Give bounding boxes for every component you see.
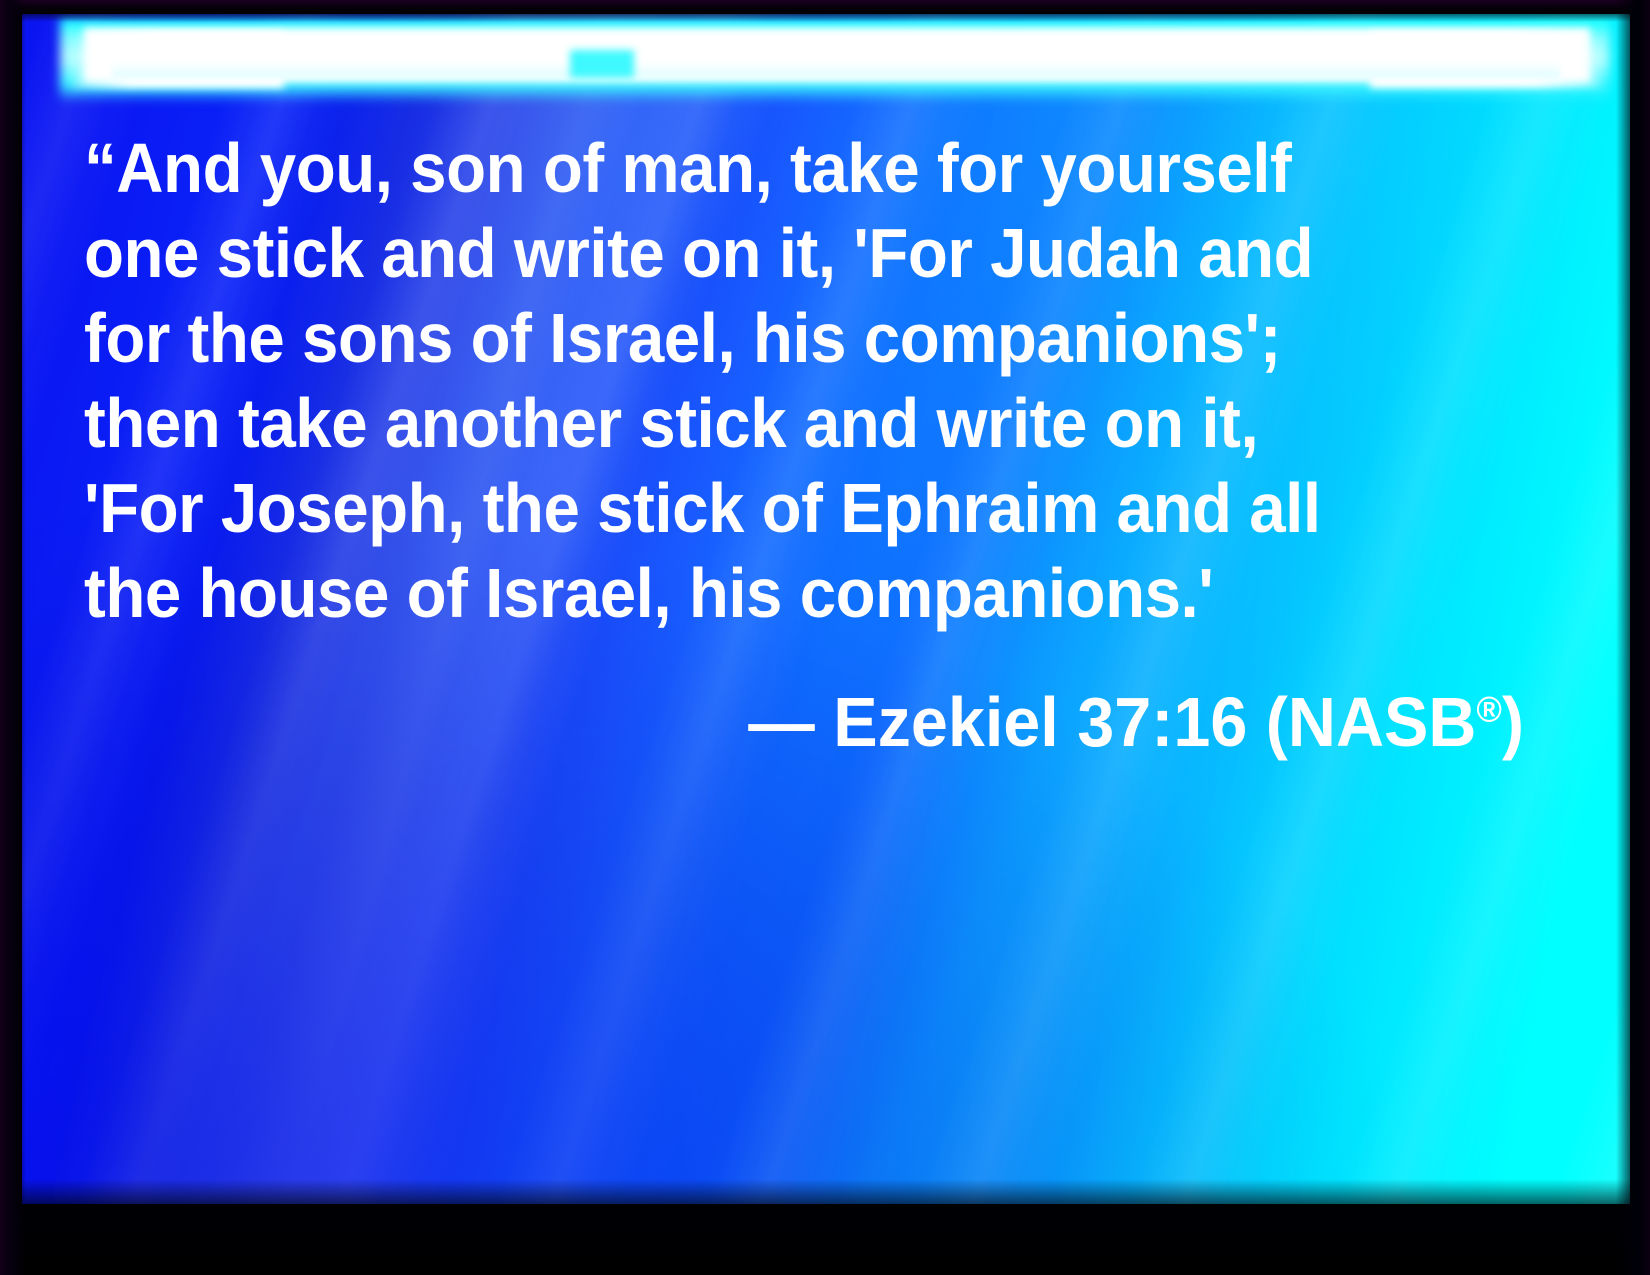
verse-image-canvas: “And you, son of man, take for yourself … (0, 0, 1650, 1275)
verse-text-block: “And you, son of man, take for yourself … (84, 126, 1524, 765)
verse-line: for the sons of Israel, his companions'; (84, 296, 1430, 381)
verse-line: one stick and write on it, 'For Judah an… (84, 211, 1430, 296)
verse-line: the house of Israel, his companions.' (84, 551, 1430, 636)
verse-attribution-suffix: ) (1502, 683, 1524, 761)
verse-line: 'For Joseph, the stick of Ephraim and al… (84, 466, 1430, 551)
verse-line: “And you, son of man, take for yourself (84, 126, 1430, 211)
verse-attribution: — Ezekiel 37:16 (NASB®) (156, 636, 1524, 765)
registered-trademark-icon: ® (1476, 689, 1501, 730)
illuminated-panel: “And you, son of man, take for yourself … (22, 14, 1630, 1204)
verse-line: then take another stick and write on it, (84, 381, 1430, 466)
verse-attribution-text: — Ezekiel 37:16 (NASB (748, 683, 1476, 761)
